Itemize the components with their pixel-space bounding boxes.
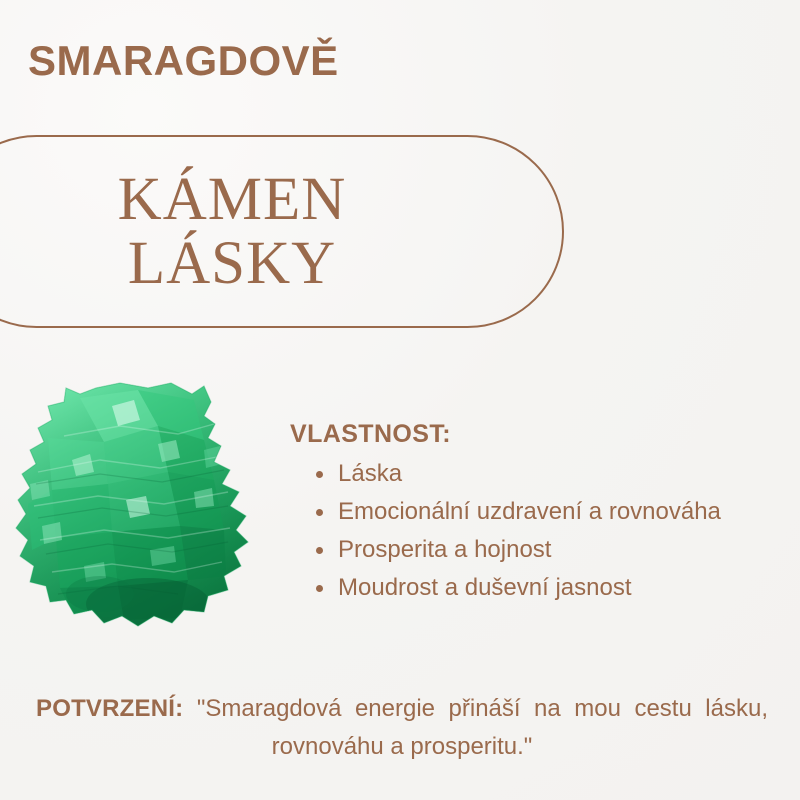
affirmation-space bbox=[183, 695, 197, 722]
affirmation-section: POTVRZENÍ: "Smaragdová energie přináší n… bbox=[36, 690, 768, 766]
bullet-icon bbox=[316, 585, 323, 592]
properties-list: Láska Emocionální uzdravení a rovnováha … bbox=[290, 455, 790, 607]
bullet-icon bbox=[316, 547, 323, 554]
properties-heading: VLASTNOST: bbox=[290, 420, 790, 449]
list-item: Emocionální uzdravení a rovnováha bbox=[290, 493, 790, 531]
affirmation-quote: "Smaragdová energie přináší na mou cestu… bbox=[197, 695, 768, 760]
pill-text-group: KÁMEN LÁSKY bbox=[0, 135, 564, 328]
pill-line-1: KÁMEN bbox=[118, 168, 347, 231]
list-item: Prosperita a hojnost bbox=[290, 531, 790, 569]
bullet-icon bbox=[316, 471, 323, 478]
list-item-label: Prosperita a hojnost bbox=[338, 536, 551, 563]
affirmation-label: POTVRZENÍ: bbox=[36, 695, 183, 722]
list-item: Moudrost a duševní jasnost bbox=[290, 569, 790, 607]
pill-line-2: LÁSKY bbox=[128, 232, 336, 295]
list-item-label: Moudrost a duševní jasnost bbox=[338, 574, 632, 601]
list-item-label: Láska bbox=[338, 460, 402, 487]
properties-section: VLASTNOST: Láska Emocionální uzdravení a… bbox=[290, 420, 790, 607]
poster-canvas: SMARAGDOVĚ KÁMEN LÁSKY bbox=[0, 0, 800, 800]
list-item: Láska bbox=[290, 455, 790, 493]
page-title: SMARAGDOVĚ bbox=[28, 40, 339, 82]
bullet-icon bbox=[316, 509, 323, 516]
emerald-svg bbox=[8, 380, 260, 630]
emerald-gemstone-image bbox=[8, 380, 260, 630]
list-item-label: Emocionální uzdravení a rovnováha bbox=[338, 498, 721, 525]
